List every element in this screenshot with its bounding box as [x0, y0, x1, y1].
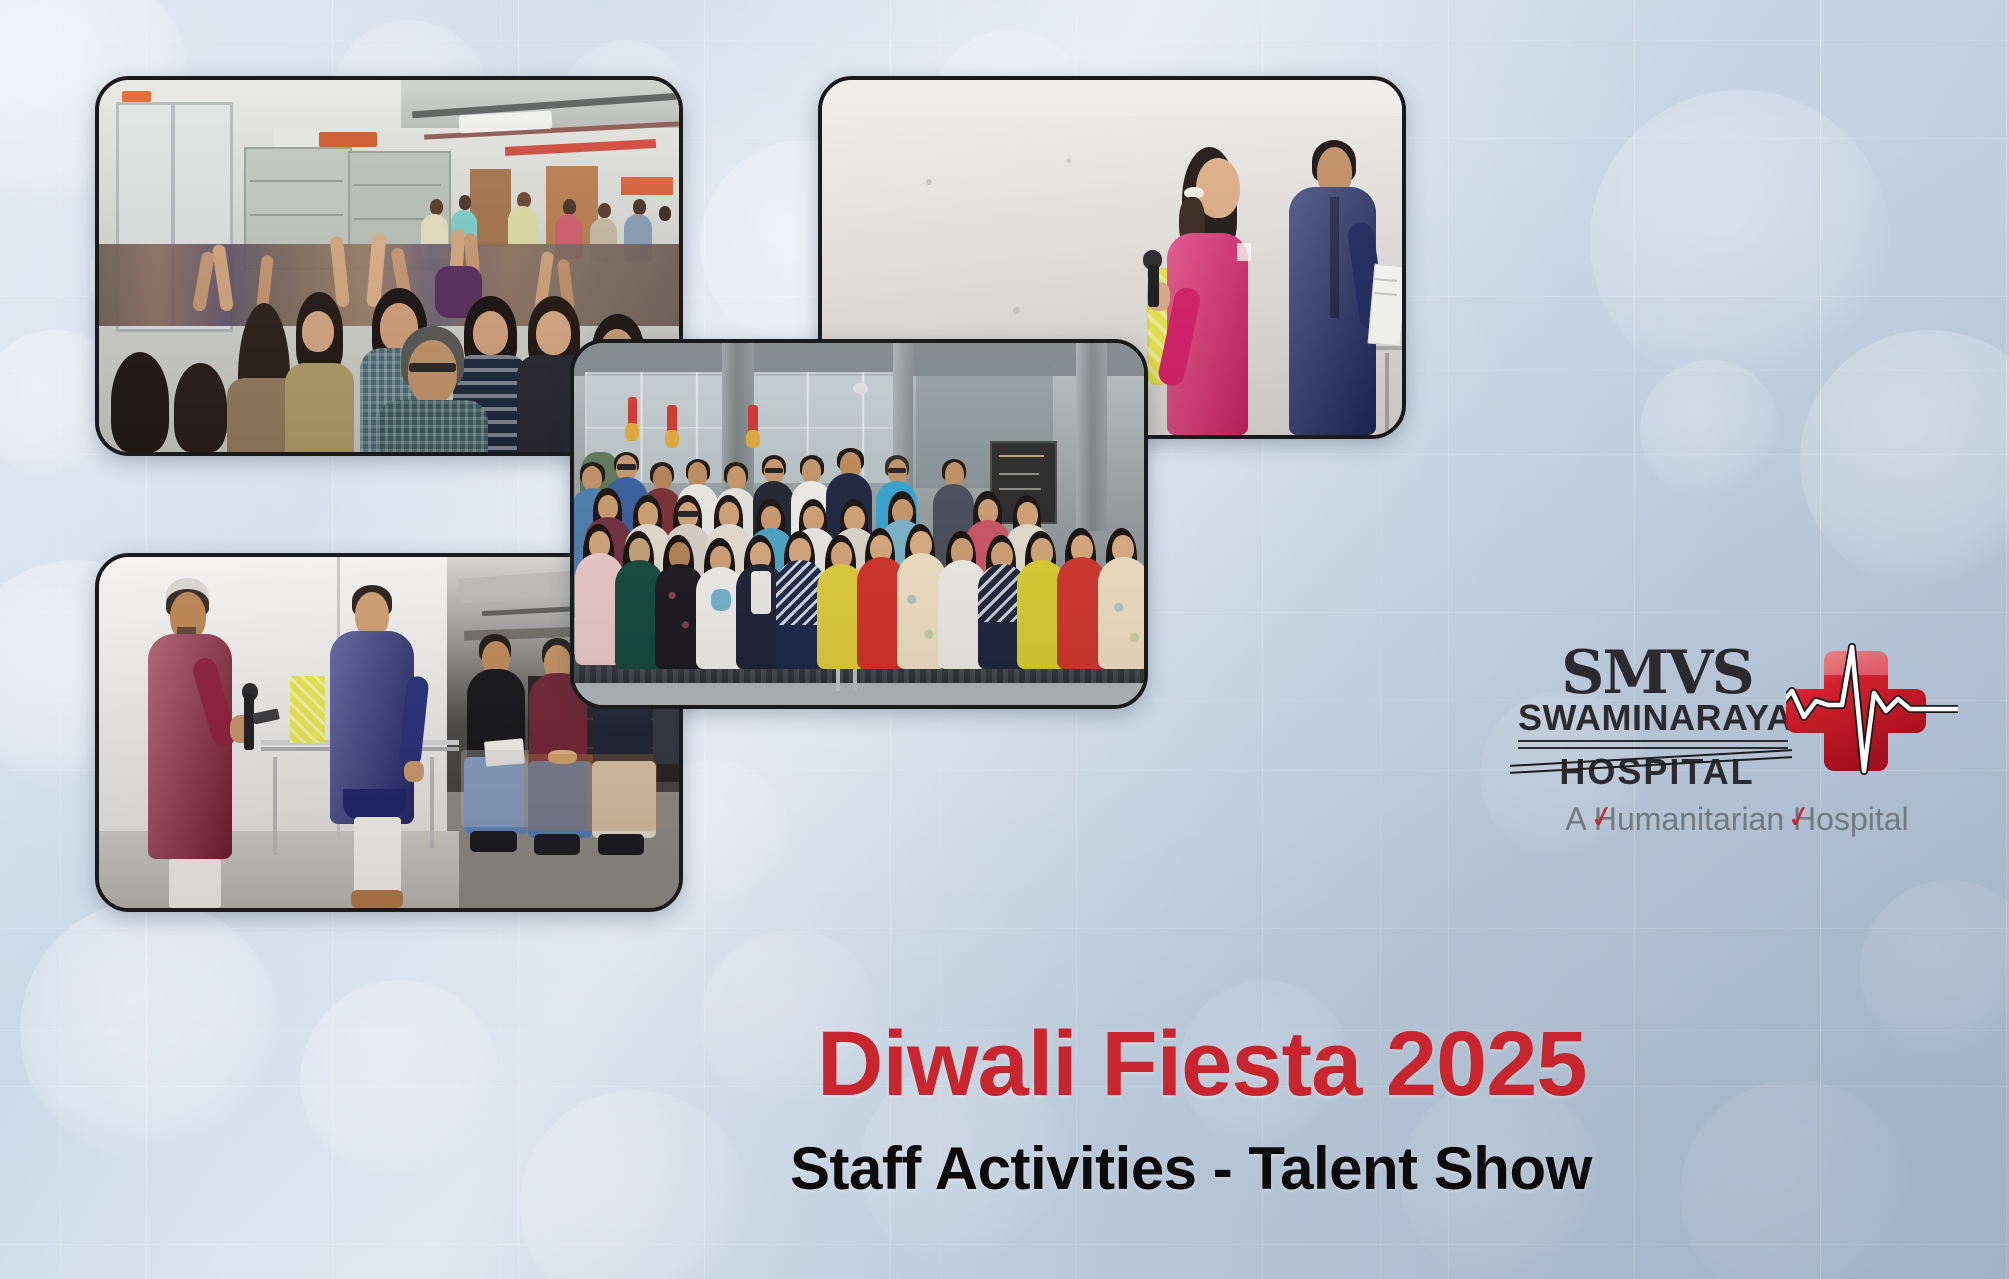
poster-canvas: SMVS SWAMINARAYAN HOSPITAL [0, 0, 2009, 1279]
logo-tagline: A ✓Humanitarian ✓Hospital [1506, 803, 1968, 835]
page-title: Diwali Fiesta 2025 [817, 1012, 1587, 1117]
hospital-logo: SMVS SWAMINARAYAN HOSPITAL [1518, 645, 1958, 845]
page-subtitle: Staff Activities - Talent Show [790, 1134, 1592, 1203]
photo-group-staff [570, 339, 1148, 709]
logo-divider-rule [1518, 740, 1788, 749]
logo-tagline-word1: Humanitarian [1594, 801, 1784, 837]
red-cross-ecg-icon [1786, 641, 1958, 779]
logo-line-swaminarayan: SWAMINARAYAN [1518, 700, 1796, 736]
logo-brand-smvs: SMVS [1518, 645, 1796, 702]
